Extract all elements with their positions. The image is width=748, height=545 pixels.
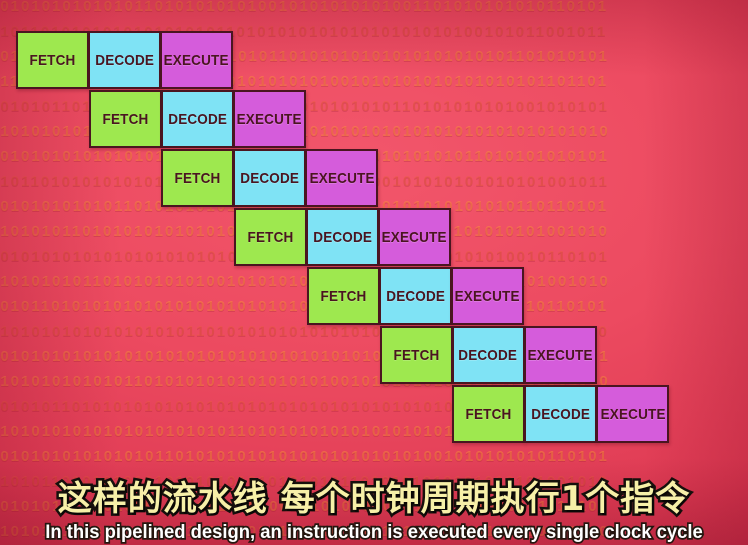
pipeline-stage-decode[interactable]: DECODE bbox=[379, 267, 452, 325]
pipeline-stage-fetch[interactable]: FETCH bbox=[234, 208, 307, 266]
subtitle-english: In this pipelined design, an instruction… bbox=[11, 521, 737, 545]
pipeline-stage-label: FETCH bbox=[248, 229, 294, 246]
pipeline-stage-label: EXECUTE bbox=[527, 347, 592, 364]
pipeline-stage-decode[interactable]: DECODE bbox=[233, 149, 306, 207]
pipeline-stage-fetch[interactable]: FETCH bbox=[89, 90, 162, 148]
pipeline-stage-decode[interactable]: DECODE bbox=[524, 385, 597, 443]
pipeline-stage-fetch[interactable]: FETCH bbox=[161, 149, 234, 207]
pipeline-stage-execute[interactable]: EXECUTE bbox=[524, 326, 597, 384]
instruction-pipeline-diagram: FETCHDECODEEXECUTEFETCHDECODEEXECUTEFETC… bbox=[0, 0, 748, 545]
pipeline-stage-label: FETCH bbox=[393, 347, 439, 364]
pipeline-stage-execute[interactable]: EXECUTE bbox=[378, 208, 451, 266]
subtitle-block: 这样的流水线 每个时钟周期执行1个指令 In this pipelined de… bbox=[0, 478, 748, 545]
pipeline-stage-label: EXECUTE bbox=[600, 406, 665, 423]
pipeline-stage-label: EXECUTE bbox=[164, 52, 229, 69]
slide-canvas: 1010101010101011010101010100101010101010… bbox=[0, 0, 748, 545]
pipeline-stage-label: DECODE bbox=[459, 347, 518, 364]
pipeline-stage-label: EXECUTE bbox=[455, 288, 520, 305]
subtitle-chinese: 这样的流水线 每个时钟周期执行1个指令 bbox=[0, 478, 748, 520]
pipeline-stage-decode[interactable]: DECODE bbox=[161, 90, 234, 148]
pipeline-stage-fetch[interactable]: FETCH bbox=[307, 267, 380, 325]
pipeline-stage-label: FETCH bbox=[30, 52, 76, 69]
pipeline-stage-label: FETCH bbox=[466, 406, 512, 423]
pipeline-stage-fetch[interactable]: FETCH bbox=[380, 326, 453, 384]
pipeline-stage-label: DECODE bbox=[386, 288, 445, 305]
pipeline-stage-label: DECODE bbox=[240, 170, 299, 187]
pipeline-stage-label: DECODE bbox=[168, 111, 227, 128]
pipeline-stage-execute[interactable]: EXECUTE bbox=[160, 31, 233, 89]
pipeline-stage-execute[interactable]: EXECUTE bbox=[451, 267, 524, 325]
pipeline-stage-label: FETCH bbox=[320, 288, 366, 305]
pipeline-stage-label: DECODE bbox=[531, 406, 590, 423]
pipeline-stage-fetch[interactable]: FETCH bbox=[16, 31, 89, 89]
pipeline-stage-execute[interactable]: EXECUTE bbox=[233, 90, 306, 148]
pipeline-stage-fetch[interactable]: FETCH bbox=[452, 385, 525, 443]
pipeline-stage-execute[interactable]: EXECUTE bbox=[305, 149, 378, 207]
pipeline-stage-decode[interactable]: DECODE bbox=[88, 31, 161, 89]
pipeline-stage-label: DECODE bbox=[95, 52, 154, 69]
pipeline-stage-label: EXECUTE bbox=[309, 170, 374, 187]
pipeline-stage-decode[interactable]: DECODE bbox=[452, 326, 525, 384]
pipeline-stage-label: FETCH bbox=[175, 170, 221, 187]
pipeline-stage-label: EXECUTE bbox=[237, 111, 302, 128]
pipeline-stage-label: DECODE bbox=[313, 229, 372, 246]
pipeline-stage-label: FETCH bbox=[102, 111, 148, 128]
pipeline-stage-label: EXECUTE bbox=[382, 229, 447, 246]
pipeline-stage-execute[interactable]: EXECUTE bbox=[596, 385, 669, 443]
pipeline-stage-decode[interactable]: DECODE bbox=[306, 208, 379, 266]
